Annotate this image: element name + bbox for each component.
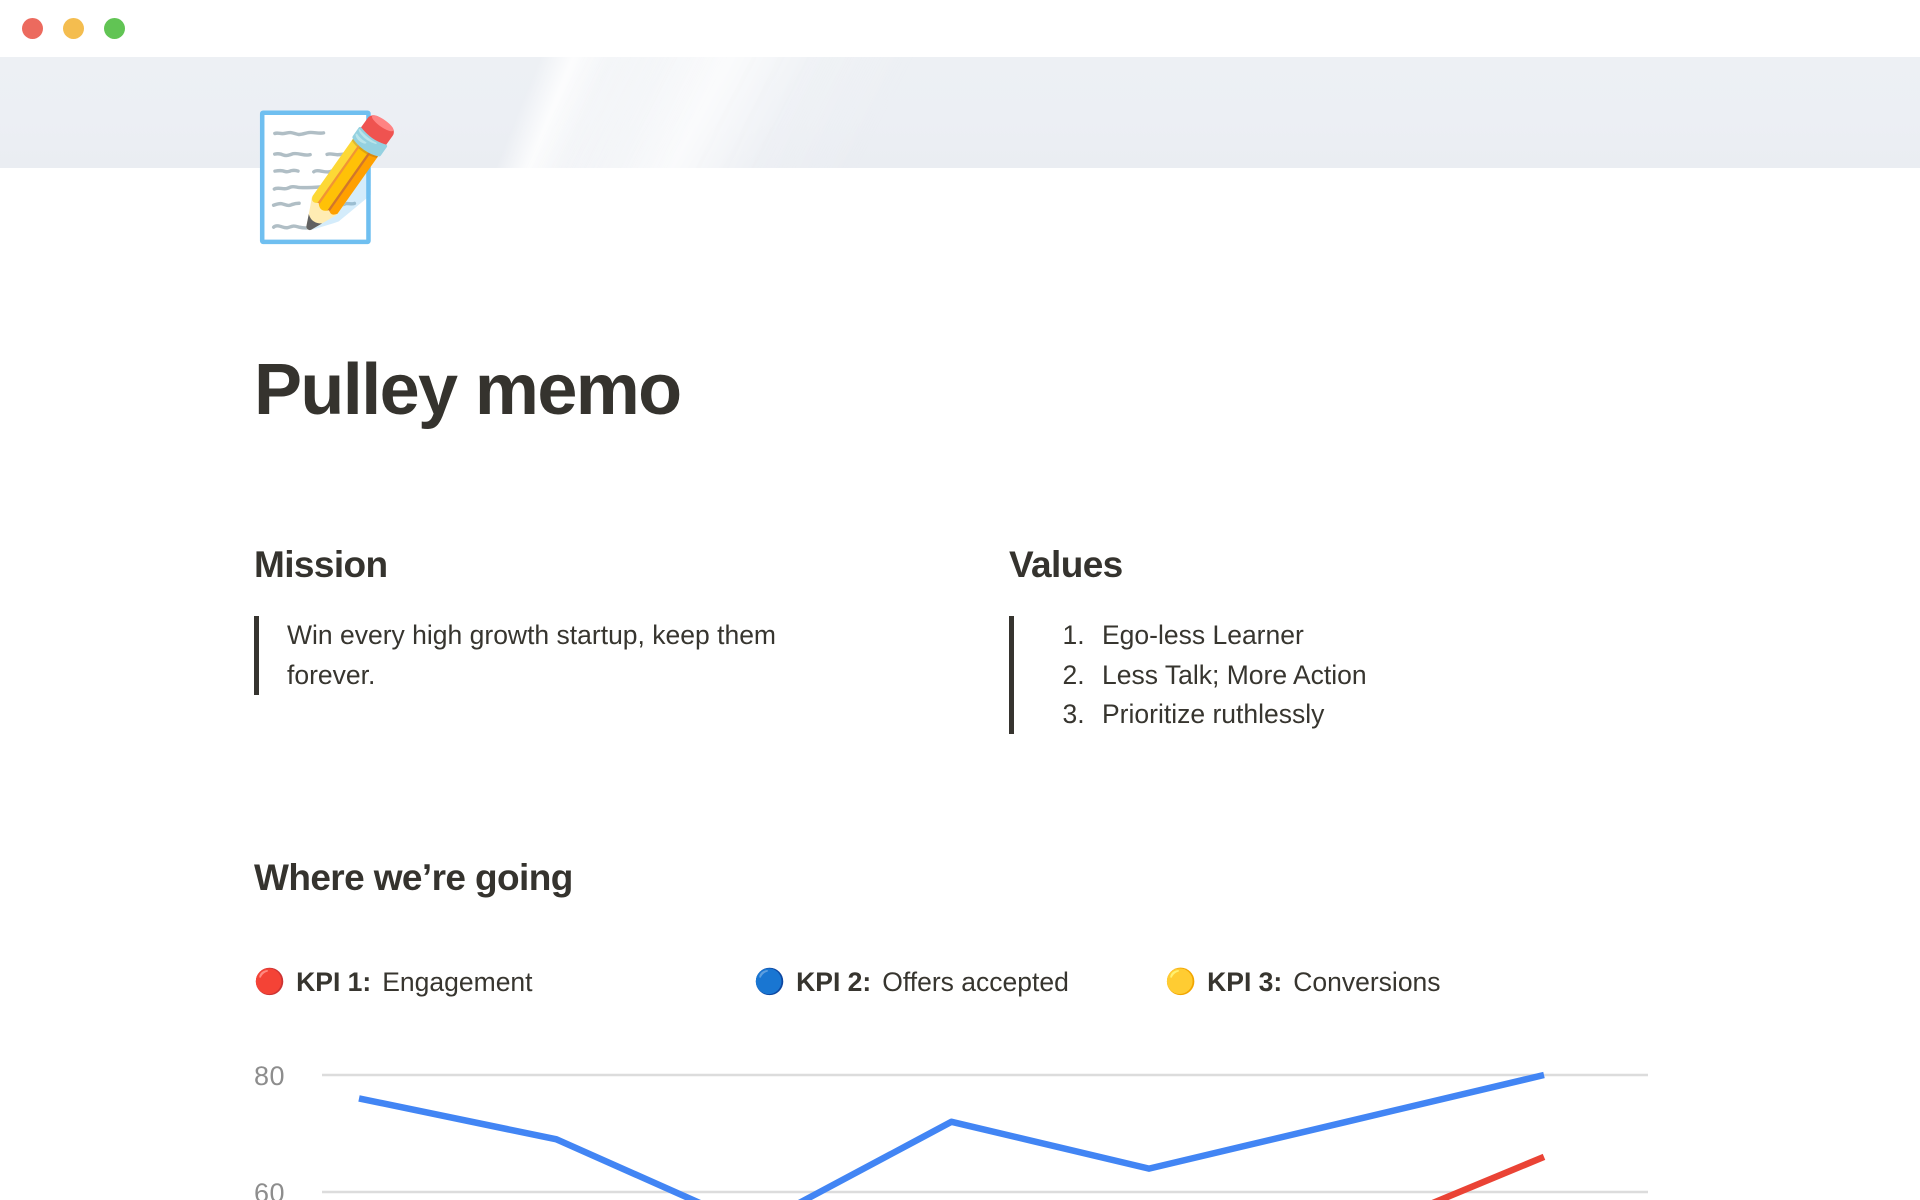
kpi-3-key: KPI 3: [1207, 969, 1282, 996]
kpi-1-label: Engagement [382, 969, 532, 996]
values-list-item[interactable]: Prioritize ruthlessly [1092, 695, 1654, 734]
app-window: 📝 Pulley memo Mission Win every high gro… [0, 0, 1920, 1200]
yellow-circle-icon: 🟡 [1165, 970, 1196, 995]
mission-column: Mission Win every high growth startup, k… [254, 543, 1009, 695]
kpi-legend-row: 🔴 KPI 1: Engagement 🔵 KPI 2: Offers acce… [254, 969, 1654, 996]
values-list-item[interactable]: Less Talk; More Action [1092, 656, 1654, 695]
mission-quote-block: Win every high growth startup, keep them… [254, 616, 1009, 694]
y-axis-tick-80: 80 [254, 1061, 285, 1091]
kpi-2-label: Offers accepted [882, 969, 1069, 996]
where-we-are-going-heading[interactable]: Where we’re going [254, 857, 573, 899]
series-line-kpi-2 [359, 1075, 1544, 1200]
kpi-1-key: KPI 1: [296, 969, 371, 996]
series-line-kpi-1 [1347, 1157, 1545, 1200]
chart-series [359, 1075, 1544, 1200]
kpi-line-chart[interactable]: 80 60 [254, 1040, 1654, 1200]
chart-axis-labels: 80 60 [254, 1061, 285, 1200]
values-quote-block: Ego-less Learner Less Talk; More Action … [1009, 616, 1654, 734]
kpi-legend-item-2[interactable]: 🔵 KPI 2: Offers accepted [754, 969, 1165, 996]
mission-text[interactable]: Win every high growth startup, keep them… [287, 616, 847, 694]
values-heading[interactable]: Values [1009, 543, 1654, 587]
kpi-legend-item-1[interactable]: 🔴 KPI 1: Engagement [254, 969, 754, 996]
two-column-section: Mission Win every high growth startup, k… [254, 543, 1654, 734]
mission-heading[interactable]: Mission [254, 543, 1009, 587]
kpi-3-label: Conversions [1293, 969, 1440, 996]
kpi-2-key: KPI 2: [796, 969, 871, 996]
spiral-notepad-emoji-icon[interactable]: 📝 [258, 108, 396, 246]
document-page: 📝 Pulley memo Mission Win every high gro… [0, 0, 1920, 1200]
values-list-item[interactable]: Ego-less Learner [1092, 616, 1654, 655]
kpi-legend-item-3[interactable]: 🟡 KPI 3: Conversions [1165, 969, 1441, 996]
values-list: Ego-less Learner Less Talk; More Action … [1042, 616, 1654, 734]
page-title[interactable]: Pulley memo [254, 350, 681, 431]
y-axis-tick-60: 60 [254, 1178, 285, 1200]
red-circle-icon: 🔴 [254, 970, 285, 995]
blue-circle-icon: 🔵 [754, 970, 785, 995]
kpi-chart-svg: 80 60 [254, 1040, 1654, 1200]
values-column: Values Ego-less Learner Less Talk; More … [1009, 543, 1654, 734]
